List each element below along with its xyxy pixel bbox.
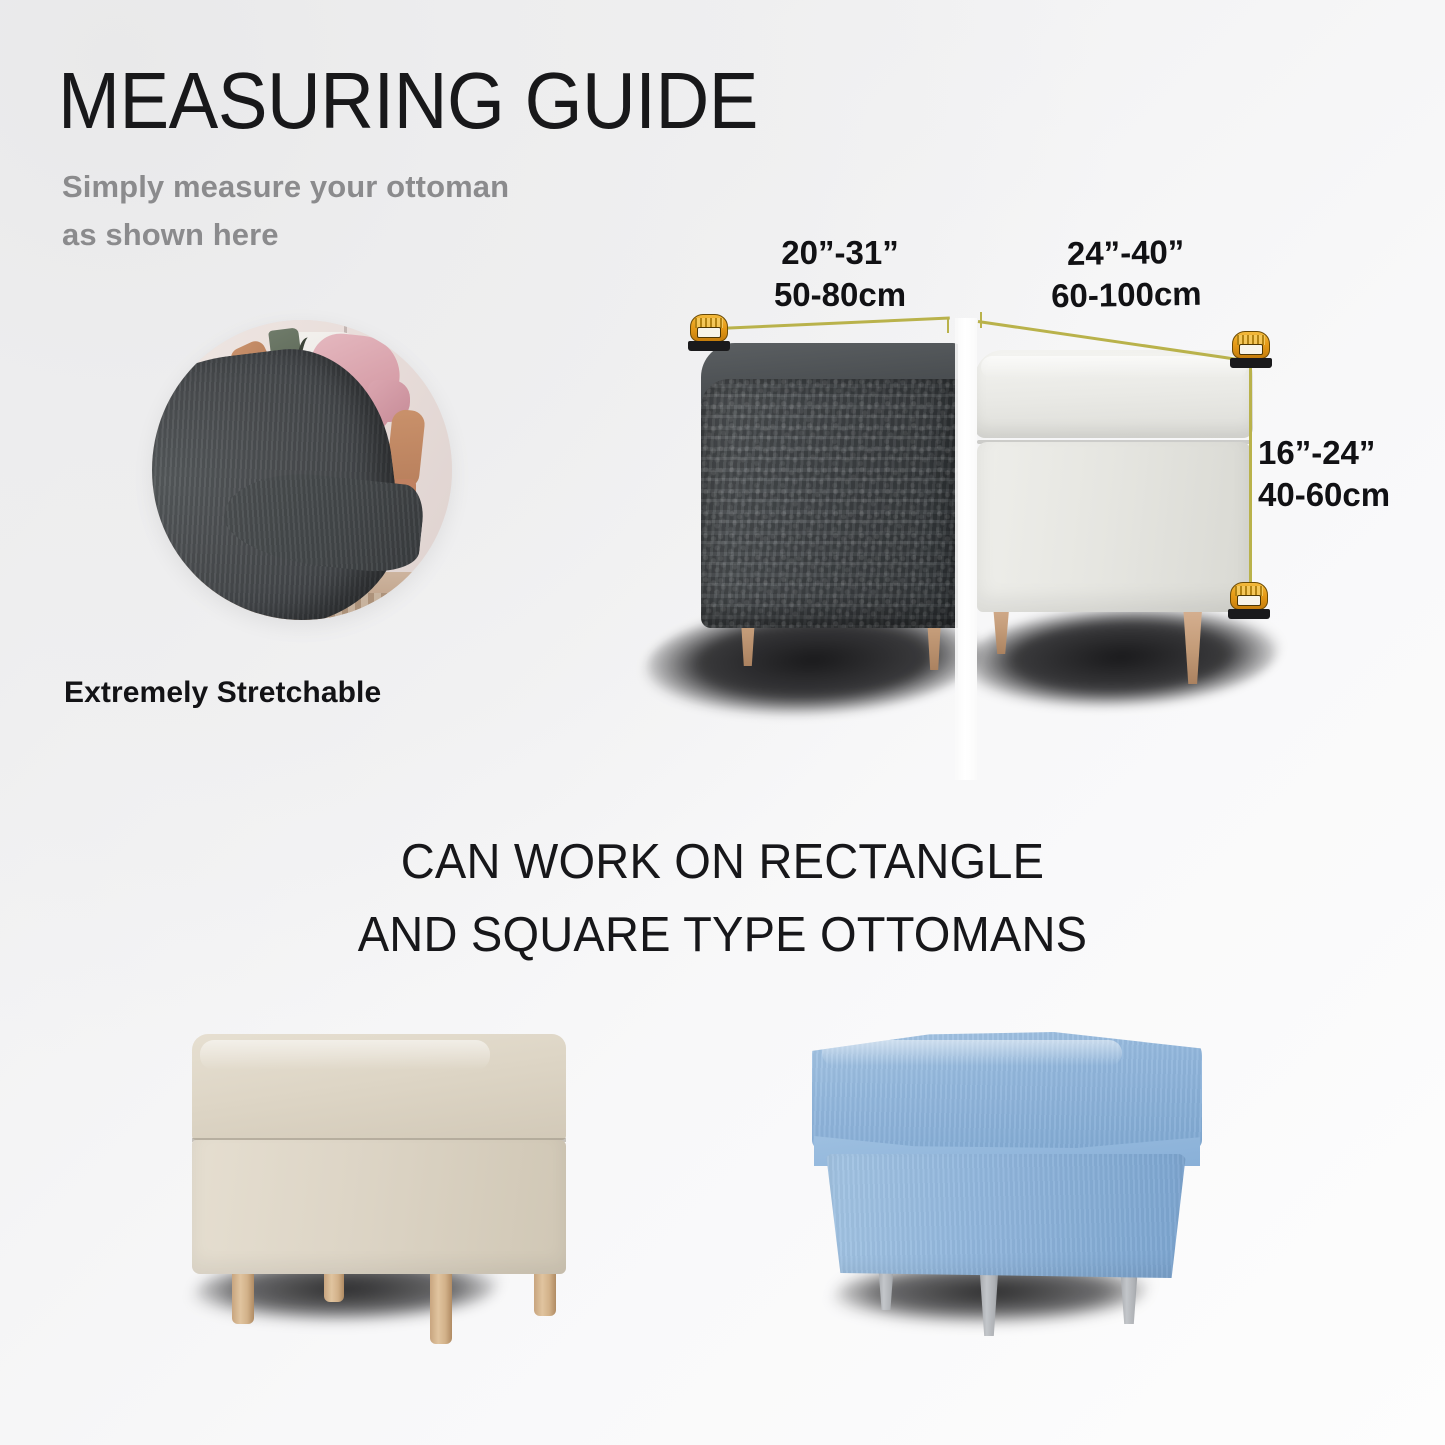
tape-measure-window bbox=[1239, 344, 1263, 355]
width-guide-tick bbox=[947, 317, 949, 333]
tape-measure-base bbox=[1230, 358, 1272, 368]
beige-ottoman-cushion bbox=[192, 1034, 566, 1140]
rectangle-ottoman-beige bbox=[192, 1034, 566, 1274]
tape-measure-base bbox=[688, 341, 730, 351]
page-title: MEASURING GUIDE bbox=[58, 58, 758, 144]
tape-measure-base bbox=[1228, 609, 1270, 619]
width-dimension-label: 20”-31” 50-80cm bbox=[740, 232, 940, 316]
tape-measure-window bbox=[1237, 595, 1261, 606]
blue-ottoman-body bbox=[826, 1154, 1186, 1278]
square-ottoman-blue bbox=[812, 1028, 1202, 1268]
tape-measure-window bbox=[697, 327, 721, 338]
ottoman-with-slipcover bbox=[701, 343, 963, 628]
compatibility-banner: CAN WORK ON RECTANGLE AND SQUARE TYPE OT… bbox=[29, 826, 1416, 972]
depth-dimension-label: 24”-40” 60-100cm bbox=[1015, 230, 1236, 318]
width-guide-line bbox=[718, 316, 950, 330]
beige-ottoman-leg-3 bbox=[430, 1268, 452, 1344]
measuring-guide-infographic: MEASURING GUIDE Simply measure your otto… bbox=[0, 0, 1445, 1445]
stretchable-caption: Extremely Stretchable bbox=[64, 676, 381, 710]
split-divider bbox=[958, 318, 977, 780]
height-dimension-label: 16”-24” 40-60cm bbox=[1258, 432, 1445, 516]
height-guide-line bbox=[1249, 358, 1252, 600]
page-subtitle: Simply measure your ottoman as shown her… bbox=[62, 163, 509, 259]
tape-measure-icon bbox=[1230, 330, 1274, 368]
stretch-demo-photo bbox=[152, 320, 452, 620]
beige-ottoman-body bbox=[192, 1140, 566, 1274]
bare-ottoman-cushion bbox=[975, 350, 1253, 438]
ottoman-without-slipcover bbox=[975, 350, 1253, 612]
bare-ottoman-body bbox=[977, 442, 1251, 612]
blue-ottoman-cushion bbox=[812, 1032, 1202, 1150]
slipcover-ruched-texture bbox=[701, 379, 963, 628]
tape-measure-icon bbox=[688, 313, 732, 351]
tape-measure-icon bbox=[1228, 581, 1272, 619]
depth-guide-tick bbox=[980, 312, 982, 328]
